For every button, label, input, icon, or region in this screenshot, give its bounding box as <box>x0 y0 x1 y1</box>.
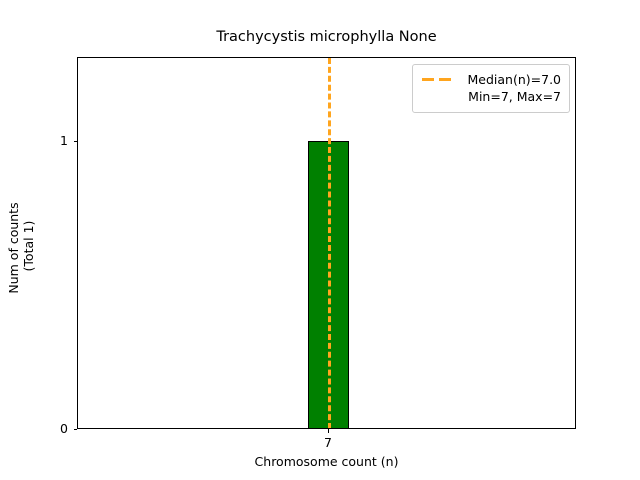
x-axis-label: Chromosome count (n) <box>77 455 576 469</box>
legend-label-minmax: Min=7, Max=7 <box>462 88 561 105</box>
median-line <box>328 58 331 429</box>
figure-canvas: Trachycystis microphylla None 0 1 7 Medi… <box>0 0 640 480</box>
legend: Median(n)=7.0 Min=7, Max=7 <box>412 64 570 113</box>
ytick-mark-0 <box>74 429 78 430</box>
y-axis-label: Num of counts (Total 1) <box>6 62 36 434</box>
legend-dashed-line-icon <box>421 71 455 87</box>
ytick-label-0: 0 <box>60 423 68 436</box>
legend-label-group: Median(n)=7.0 Min=7, Max=7 <box>462 71 561 105</box>
page-title: Trachycystis microphylla None <box>77 28 576 46</box>
xtick-label-7: 7 <box>324 436 332 449</box>
ytick-label-1: 1 <box>60 135 68 148</box>
xtick-mark-7 <box>328 429 329 433</box>
legend-label-median: Median(n)=7.0 <box>462 71 561 88</box>
